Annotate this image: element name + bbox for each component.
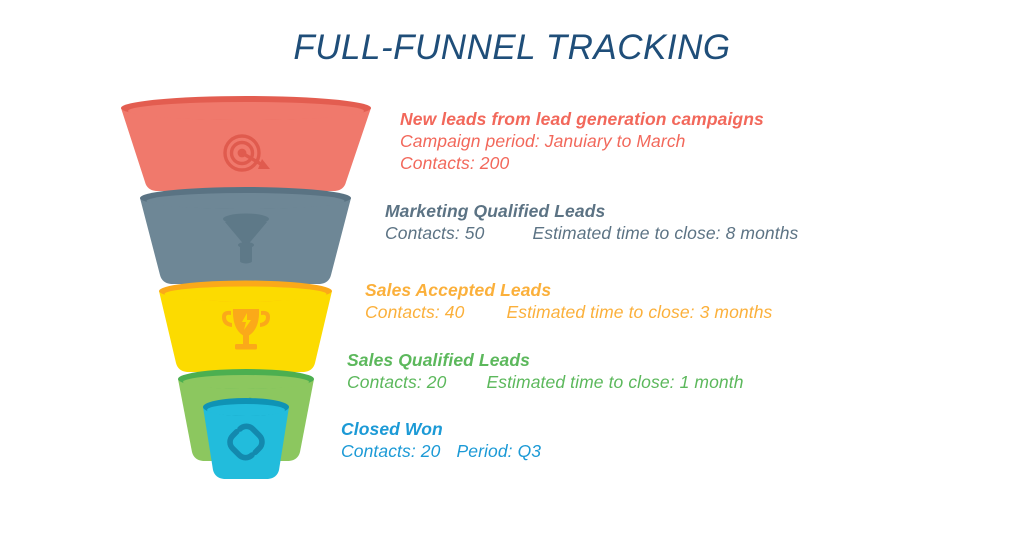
- stage-3-heading: Sales Accepted Leads: [365, 279, 772, 301]
- stage-2-line-1: Contacts: 50 Estimated time to close: 8 …: [385, 222, 798, 244]
- stage-3-eta-value: 3 months: [700, 301, 773, 323]
- stage-4-contacts-value: 20: [427, 371, 447, 393]
- stage-4-contacts-label: Contacts:: [347, 371, 422, 393]
- stage-5-contacts-value: 20: [421, 440, 441, 462]
- stage-4-heading: Sales Qualified Leads: [347, 349, 744, 371]
- funnel-stage-closed-won[interactable]: [203, 398, 289, 479]
- stage-3-contacts-value: 40: [445, 301, 465, 323]
- stage-1-contacts-value: 200: [480, 153, 510, 173]
- stage-1-heading: New leads from lead generation campaigns: [400, 108, 764, 130]
- stage-5-line-1: Contacts: 20 Period: Q3: [341, 440, 541, 462]
- stage-2-heading: Marketing Qualified Leads: [385, 200, 798, 222]
- stage-2-contacts-label: Contacts:: [385, 222, 460, 244]
- funnel-stage-sales-accepted-leads[interactable]: [159, 281, 332, 373]
- stage-5-heading: Closed Won: [341, 418, 541, 440]
- stage-5-period-value: Q3: [518, 440, 542, 462]
- stage-4-line-1: Contacts: 20 Estimated time to close: 1 …: [347, 371, 744, 393]
- stage-2-eta-label: Estimated time to close:: [532, 222, 720, 244]
- funnel-diagram-canvas: FULL-FUNNEL TRACKING: [0, 0, 1024, 536]
- page-title: FULL-FUNNEL TRACKING: [0, 28, 1024, 68]
- stage-1-line-1: Campaign period: Januiary to March: [400, 130, 764, 152]
- funnel-stage-new-leads[interactable]: [121, 96, 371, 191]
- stage-2-contacts-value: 50: [465, 222, 485, 244]
- stage-5-period-label: Period:: [456, 440, 512, 462]
- stage-4-eta-value: 1 month: [680, 371, 744, 393]
- funnel-stage-5-body: [203, 407, 289, 479]
- stage-3-line-1: Contacts: 40 Estimated time to close: 3 …: [365, 301, 772, 323]
- funnel-stage-1-inner: [128, 102, 364, 120]
- stage-5-contacts-label: Contacts:: [341, 440, 416, 462]
- funnel-label-marketing-qualified-leads: Marketing Qualified Leads Contacts: 50 E…: [385, 200, 798, 244]
- stage-1-period-label: Campaign period:: [400, 131, 540, 151]
- funnel-label-sales-qualified-leads: Sales Qualified Leads Contacts: 20 Estim…: [347, 349, 744, 393]
- funnel-stage-1-body: [121, 108, 371, 191]
- funnel-stage-4-inner: [183, 375, 309, 389]
- funnel-label-closed-won: Closed Won Contacts: 20 Period: Q3: [341, 418, 541, 462]
- stage-3-eta-label: Estimated time to close:: [506, 301, 694, 323]
- stage-1-line-2: Contacts: 200: [400, 152, 764, 174]
- stage-1-period-value: Januiary to March: [545, 131, 686, 151]
- stage-2-eta-value: 8 months: [726, 222, 799, 244]
- funnel-stage-2-inner: [147, 193, 345, 209]
- funnel-label-sales-accepted-leads: Sales Accepted Leads Contacts: 40 Estima…: [365, 279, 772, 323]
- funnel-stage-marketing-qualified-leads[interactable]: [140, 187, 351, 284]
- stage-1-contacts-label: Contacts:: [400, 153, 475, 173]
- funnel-stage-3-inner: [165, 287, 327, 302]
- stage-3-contacts-label: Contacts:: [365, 301, 440, 323]
- funnel-label-new-leads: New leads from lead generation campaigns…: [400, 108, 764, 174]
- stage-4-eta-label: Estimated time to close:: [486, 371, 674, 393]
- funnel-stage-5-inner: [207, 404, 285, 416]
